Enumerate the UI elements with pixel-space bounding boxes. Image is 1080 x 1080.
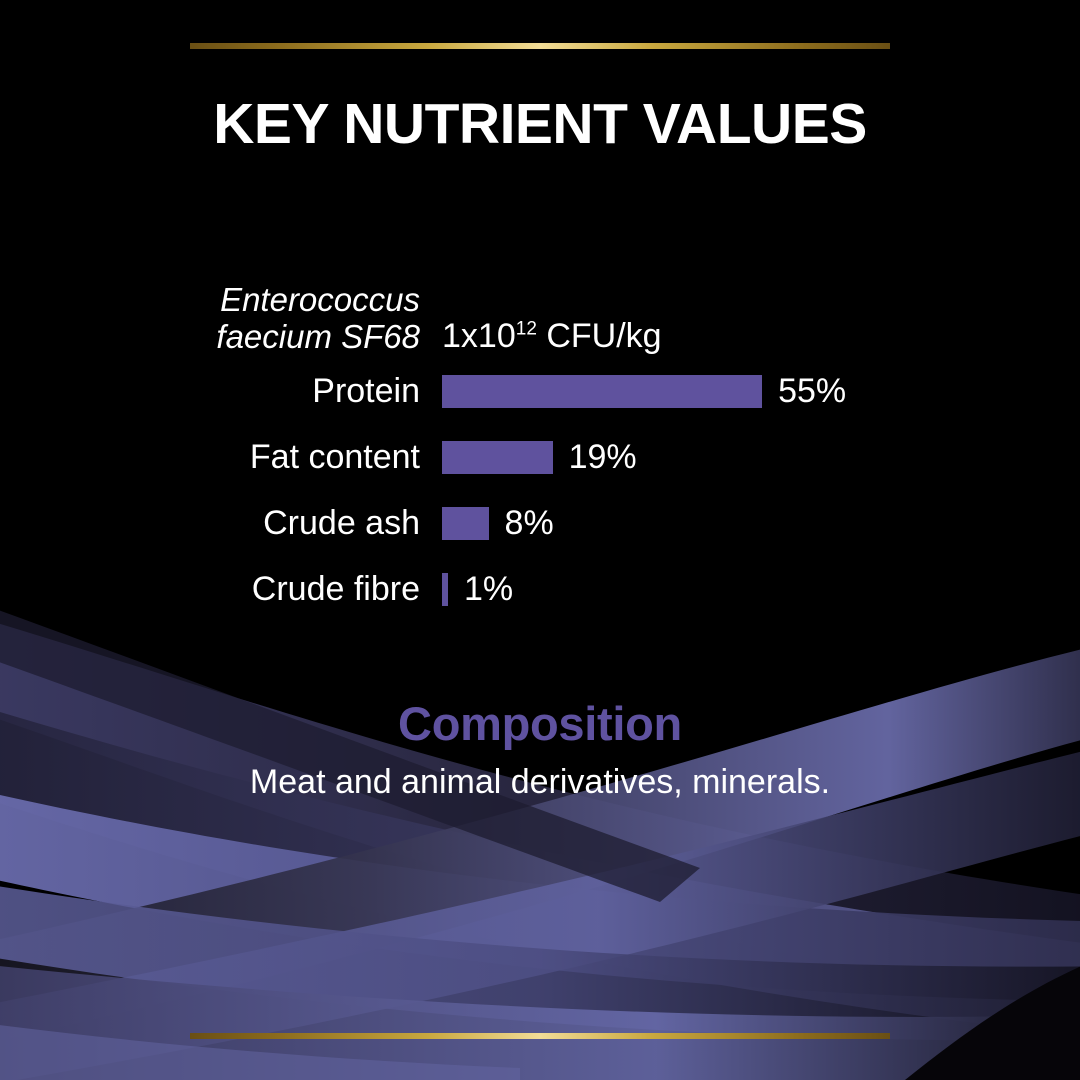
nutrient-label-protein: Protein — [0, 373, 420, 410]
nutrient-value-protein: 55% — [778, 372, 846, 411]
nutrient-bar-group-crude-ash: 8% — [442, 504, 554, 543]
nutrient-row-crude-fibre: Crude fibre 1% — [0, 556, 1080, 622]
nutrient-label-probiotic-line1: Enterococcus — [0, 282, 420, 319]
nutrient-bar-group-crude-fibre: 1% — [442, 570, 513, 609]
nutrient-value-probiotic: 1x1012 CFU/kg — [442, 317, 662, 358]
nutrient-bar-crude-fibre — [442, 573, 448, 606]
nutrient-label-crude-fibre: Crude fibre — [0, 571, 420, 608]
composition-section: Composition Meat and animal derivatives,… — [0, 700, 1080, 799]
nutrient-bar-protein — [442, 375, 762, 408]
nutrient-label-crude-ash: Crude ash — [0, 505, 420, 542]
nutrient-label-probiotic-line2: faecium SF68 — [0, 319, 420, 356]
nutrient-value-crude-ash: 8% — [505, 504, 554, 543]
nutrient-label-fat-content: Fat content — [0, 439, 420, 476]
nutrient-row-probiotic: Enterococcus faecium SF68 1x1012 CFU/kg — [0, 262, 1080, 358]
composition-text: Meat and animal derivatives, minerals. — [0, 765, 1080, 799]
composition-heading: Composition — [0, 700, 1080, 747]
nutrient-bar-group-fat-content: 19% — [442, 438, 637, 477]
nutrient-values-chart: Enterococcus faecium SF68 1x1012 CFU/kg … — [0, 262, 1080, 622]
nutrient-row-protein: Protein 55% — [0, 358, 1080, 424]
nutrient-bar-group-protein: 55% — [442, 372, 846, 411]
nutrient-row-fat-content: Fat content 19% — [0, 424, 1080, 490]
probiotic-value-suffix: CFU/kg — [537, 317, 662, 355]
nutrient-bar-crude-ash — [442, 507, 489, 540]
nutrient-bar-fat-content — [442, 441, 553, 474]
nutrient-row-crude-ash: Crude ash 8% — [0, 490, 1080, 556]
nutrient-label-probiotic: Enterococcus faecium SF68 — [0, 282, 420, 358]
probiotic-value-base: 1x10 — [442, 317, 516, 355]
nutrient-value-fat-content: 19% — [569, 438, 637, 477]
probiotic-value-exponent: 12 — [516, 319, 537, 340]
nutrient-value-crude-fibre: 1% — [464, 570, 513, 609]
nutrition-infographic: KEY NUTRIENT VALUES Enterococcus faecium… — [0, 0, 1080, 1080]
page-title: KEY NUTRIENT VALUES — [0, 96, 1080, 153]
gold-divider-top — [190, 43, 890, 49]
gold-divider-bottom — [190, 1033, 890, 1039]
